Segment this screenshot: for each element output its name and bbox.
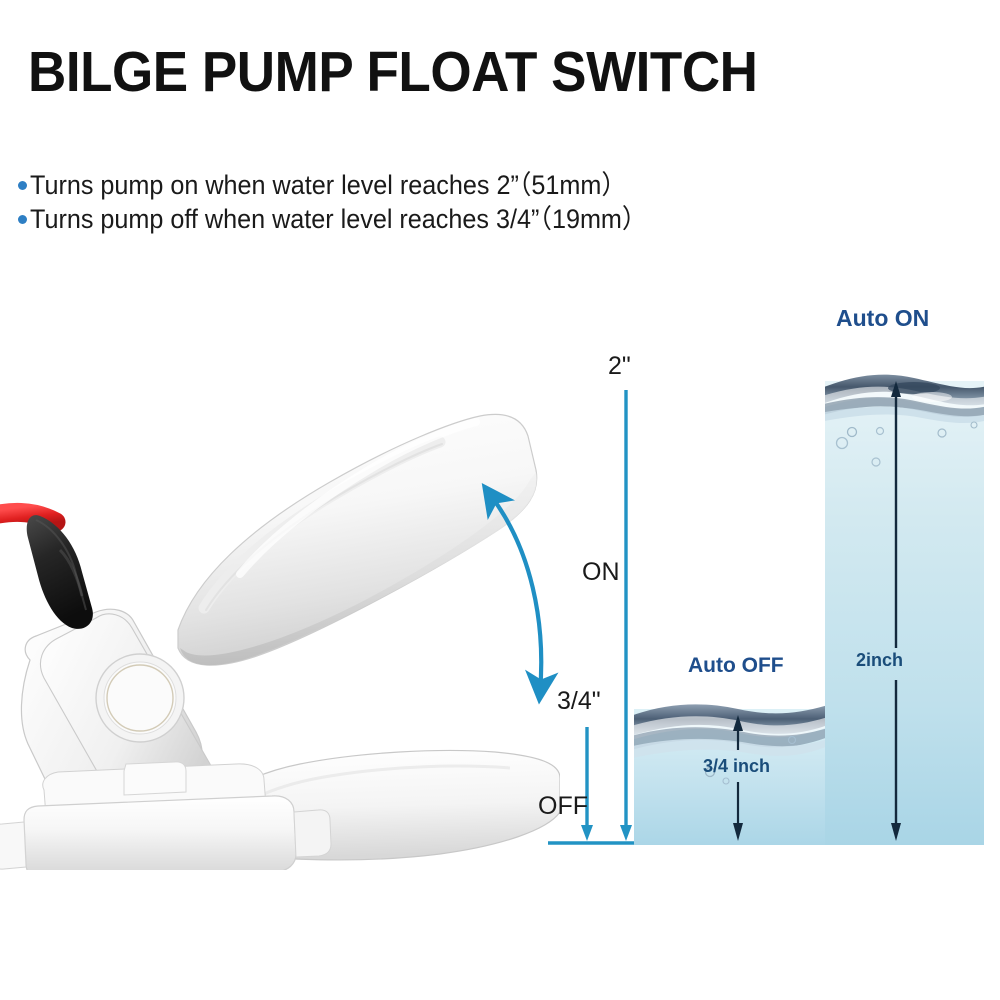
auto-off-label: Auto OFF xyxy=(688,654,784,678)
feature-text: Turns pump off when water level reaches … xyxy=(30,197,647,236)
list-item: Turns pump on when water level reaches 2… xyxy=(18,163,918,197)
water-column-auto-on xyxy=(819,375,992,845)
bullet-dot-icon xyxy=(18,215,27,224)
infographic-page: BILGE PUMP FLOAT SWITCH Turns pump on wh… xyxy=(0,0,1000,1000)
feature-list: Turns pump on when water level reaches 2… xyxy=(18,163,918,231)
power-wires xyxy=(0,512,93,628)
three-quarter-inch-measure-label: 3/4 inch xyxy=(703,756,770,777)
bullet-dot-icon xyxy=(18,181,27,190)
scale-label-off: OFF xyxy=(538,792,588,821)
list-item: Turns pump off when water level reaches … xyxy=(18,197,918,231)
water-level-diagram: Auto ON Auto OFF 2inch 3/4 inch xyxy=(614,285,1000,860)
page-title: BILGE PUMP FLOAT SWITCH xyxy=(28,44,757,101)
two-inch-measure-label: 2inch xyxy=(856,650,903,671)
auto-on-label: Auto ON xyxy=(836,305,929,332)
scale-label-mid: 3/4" xyxy=(557,687,601,716)
